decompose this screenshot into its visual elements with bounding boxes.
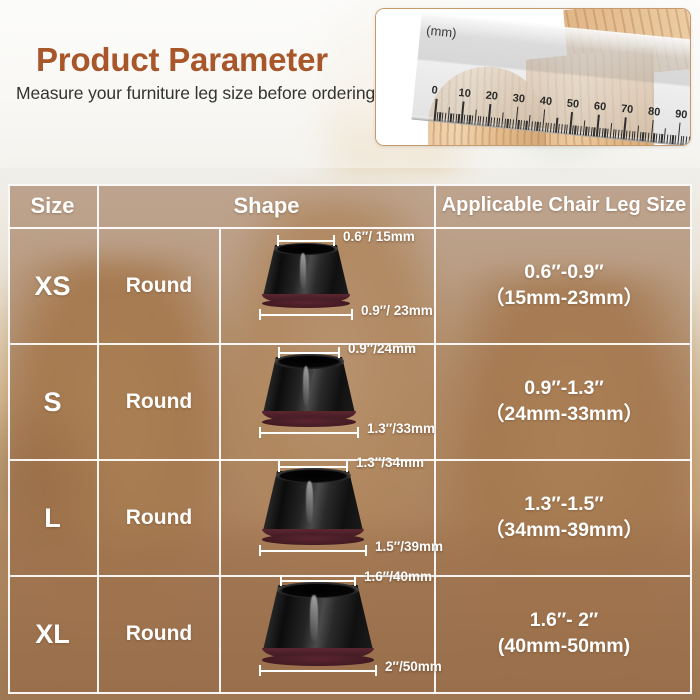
chair-leg-cap-illustration: 0.6″/ 15mm0.9″/ 23mm [221,229,434,343]
cap-body-graphic [263,471,363,539]
table-cell-shape: Round [99,461,219,575]
applicable-size-mm: （34mm-39mm） [485,518,643,544]
product-parameter-infographic: Product Parameter Measure your furniture… [0,0,700,700]
table-cell-shape: Round [99,345,219,459]
applicable-size-inches: 0.9″-1.3″ [524,376,603,402]
chair-leg-cap-illustration: 1.6″/40mm2″/50mm [221,577,434,691]
dimension-label-top: 0.9″/24mm [348,341,416,356]
ruler-tick-number: 30 [512,92,525,105]
dimension-label-top: 1.6″/40mm [364,569,432,584]
page-title: Product Parameter [36,41,328,79]
dimension-arrow-top [278,461,348,472]
ruler-tick-number: 10 [458,87,471,100]
ruler-tick-number: 80 [647,106,660,119]
applicable-size-inches: 1.3″-1.5″ [524,492,603,518]
cap-body-graphic [263,585,373,659]
table-cell-shape: Round [99,577,219,691]
table-cell-size: S [8,345,97,459]
dimension-label-top: 0.6″/ 15mm [343,229,415,244]
applicable-size-mm: （24mm-33mm） [485,402,643,428]
table-cell-applicable-size: 1.3″-1.5″（34mm-39mm） [436,461,692,575]
column-header-size: Size [8,184,97,227]
dimension-arrow-top [280,575,356,586]
cap-body-graphic [263,245,349,303]
applicable-size-mm: （15mm-23mm） [485,286,643,312]
chair-leg-cap-illustration: 1.3″/34mm1.5″/39mm [221,461,434,575]
ruler-tick-number: 70 [620,103,633,116]
table-cell-size: L [8,461,97,575]
table-cell-shape: Round [99,229,219,343]
ruler-tick-number: 40 [539,95,552,108]
applicable-size-inches: 0.6″-0.9″ [524,260,603,286]
dimension-arrow-bottom [259,427,359,438]
ruler-tick-number: 20 [485,90,498,103]
dimension-arrow-bottom [259,665,377,676]
dimension-arrow-top [277,235,335,246]
table-cell-applicable-size: 0.9″-1.3″（24mm-33mm） [436,345,692,459]
dimension-arrow-top [278,347,340,358]
page-subtitle: Measure your furniture leg size before o… [16,83,375,104]
dimension-label-top: 1.3″/34mm [356,455,424,470]
dimension-label-bottom: 2″/50mm [385,659,442,674]
ruler-photo: (mm) 010203040506070809010 [376,9,690,145]
dimension-label-bottom: 1.5″/39mm [375,539,443,554]
size-chart-table: Size Shape Applicable Chair Leg Size XSR… [8,184,692,694]
dimension-label-bottom: 1.3″/33mm [367,421,435,436]
ruler-tick-number: 50 [566,98,579,111]
ruler-tick-number: 60 [593,100,606,113]
applicable-size-inches: 1.6″- 2″ [530,608,599,634]
column-header-applicable-size: Applicable Chair Leg Size [436,184,692,227]
ruler-tick-number: 0 [431,84,438,97]
applicable-size-mm: (40mm-50mm) [498,634,630,660]
ruler-photo-card: (mm) 010203040506070809010 [375,8,691,146]
table-cell-size: XL [8,577,97,691]
cap-body-graphic [263,357,355,421]
chair-leg-cap-illustration: 0.9″/24mm1.3″/33mm [221,345,434,459]
ruler-tick-number: 90 [675,108,688,121]
dimension-arrow-bottom [259,309,353,320]
ruler-unit-label: (mm) [426,23,458,41]
table-cell-size: XS [8,229,97,343]
dimension-arrow-bottom [259,545,367,556]
dimension-label-bottom: 0.9″/ 23mm [361,303,433,318]
column-header-shape: Shape [99,184,434,227]
table-cell-applicable-size: 0.6″-0.9″（15mm-23mm） [436,229,692,343]
table-cell-applicable-size: 1.6″- 2″(40mm-50mm) [436,577,692,691]
